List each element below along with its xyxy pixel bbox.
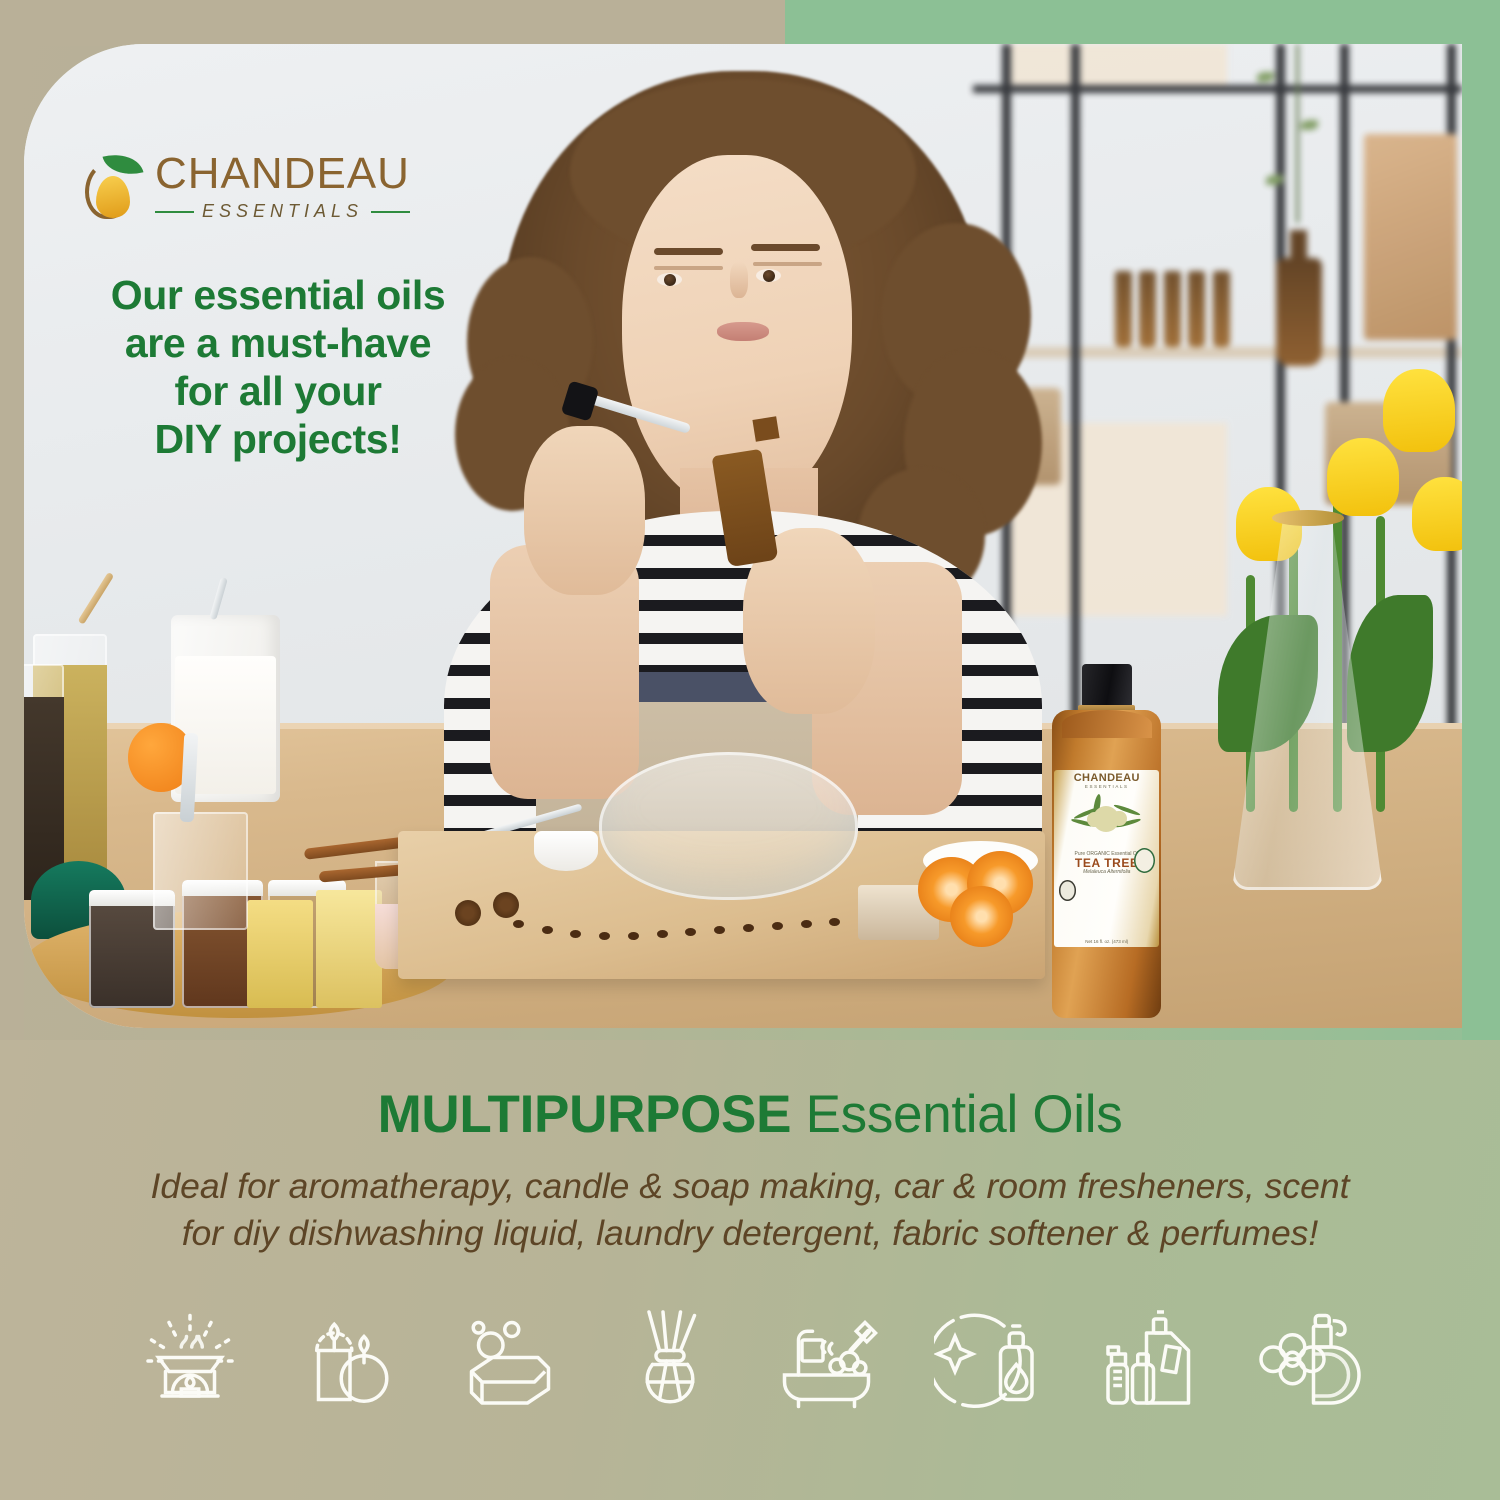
bottle-cap [1082, 664, 1132, 707]
bottom-banner: MULTIPURPOSE Essential Oils Ideal for ar… [0, 1040, 1500, 1500]
label-brand-sub: ESSENTIALS [1085, 784, 1129, 789]
left-frame-edge [0, 0, 24, 1040]
label-oil-name: TEA TREE [1075, 857, 1139, 870]
spice-dish [534, 831, 597, 870]
brand-logo: CHANDEAU ESSENTIALS [82, 150, 410, 224]
bath-dropper-icon [774, 1305, 886, 1417]
label-latin-name: Melaleuca Alternifolia [1083, 869, 1130, 875]
top-frame-band [0, 0, 1500, 46]
label-brand: CHANDEAU [1074, 773, 1140, 784]
frame-band-tan [0, 0, 785, 46]
banner-subtitle-line-1: Ideal for aromatherapy, candle & soap ma… [50, 1163, 1450, 1210]
pillar-candle [316, 890, 382, 1008]
headline-line-3: for all your [68, 368, 488, 416]
glass-mixing-bowl [599, 752, 858, 900]
perfume-icon [1254, 1305, 1366, 1417]
brand-tagline: ESSENTIALS [202, 201, 363, 222]
soap-bar-icon [454, 1305, 566, 1417]
yellow-tulip [1327, 438, 1399, 517]
logo-rule-right [371, 211, 410, 213]
detergent-icon [1094, 1305, 1206, 1417]
banner-title: MULTIPURPOSE Essential Oils [0, 1084, 1500, 1145]
use-case-icon-row [0, 1305, 1500, 1417]
reed-diffuser-icon [614, 1305, 726, 1417]
banner-subtitle: Ideal for aromatherapy, candle & soap ma… [50, 1163, 1450, 1257]
bottle-label: CHANDEAU ESSENTIALS Pure ORGANIC Essenti… [1054, 770, 1159, 947]
banner-title-bold: MULTIPURPOSE [378, 1085, 792, 1144]
banner-title-light: Essential Oils [806, 1085, 1123, 1144]
product-bottle[interactable]: CHANDEAU ESSENTIALS Pure ORGANIC Essenti… [1052, 664, 1161, 1018]
certification-seal-icon [1059, 880, 1077, 901]
brand-name: CHANDEAU [155, 152, 410, 196]
right-frame-edge [1462, 0, 1500, 1040]
clear-glass-jar [153, 812, 248, 930]
dish-soap-icon [934, 1305, 1046, 1417]
oil-burner-icon [134, 1305, 246, 1417]
yellow-tulip [1412, 477, 1462, 551]
logo-rule-left [155, 211, 194, 213]
headline-line-2: are a must-have [68, 320, 488, 368]
headline-line-4: DIY projects! [68, 416, 488, 464]
label-net-contents: Net 16 fl. oz. (473 ml) [1085, 939, 1128, 947]
oil-drop-leaf-icon [82, 150, 142, 224]
pillar-candle [247, 900, 313, 1008]
candle-icon [294, 1305, 406, 1417]
yellow-tulip [1383, 369, 1455, 453]
frame-band-green [785, 0, 1500, 46]
banner-subtitle-line-2: for diy dishwashing liquid, laundry dete… [50, 1210, 1450, 1257]
tea-tree-plant-illustration [1068, 790, 1146, 849]
organic-seal-icon [1134, 848, 1155, 873]
hero-headline: Our essential oils are a must-have for a… [68, 272, 488, 464]
headline-line-1: Our essential oils [68, 272, 488, 320]
